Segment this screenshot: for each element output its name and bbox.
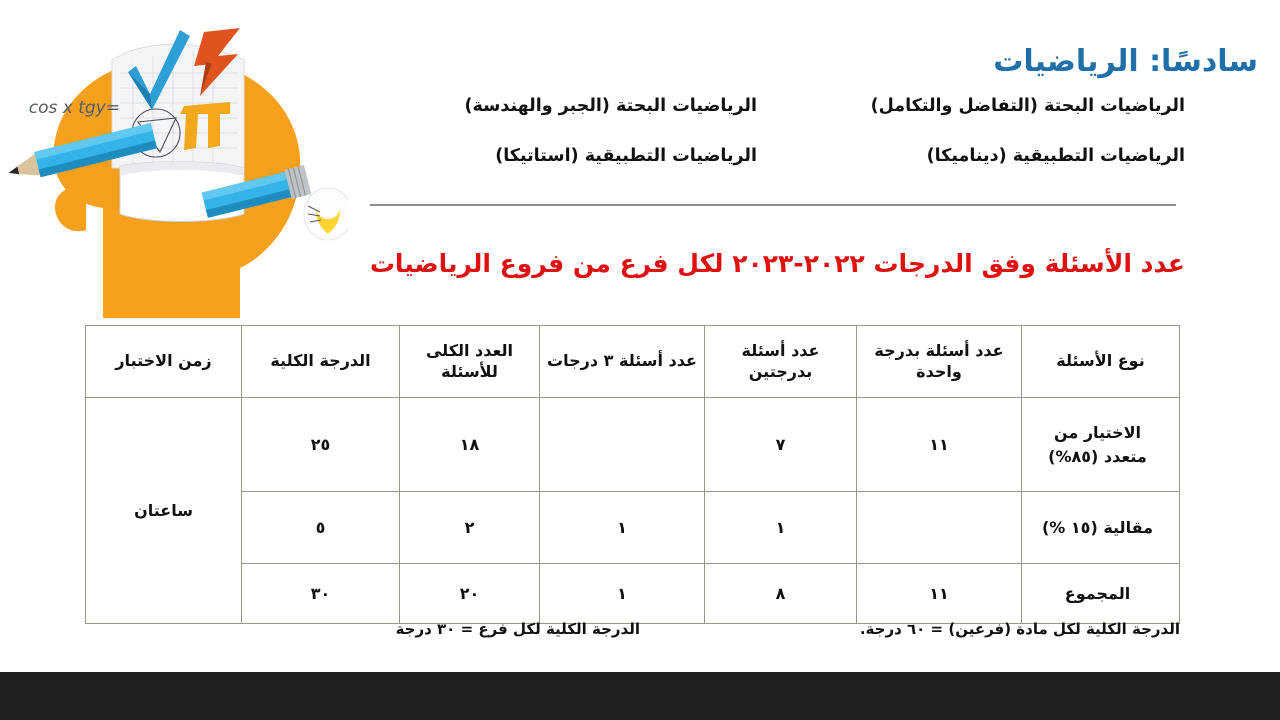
cell-mcq-three [540, 398, 705, 492]
row-label-mcq: الاختيار من متعدد (٨٥%) [1022, 398, 1180, 492]
table-row: مقالية (١٥ %) ١ ١ ٢ ٥ [86, 492, 1180, 564]
slide-canvas: =cos x tgy [0, 0, 1280, 720]
col-header-one: عدد أسئلة بدرجة واحدة [857, 326, 1022, 398]
branch-row-applied: الرياضيات التطبيقية (ديناميكا) الرياضيات… [355, 146, 1185, 166]
note-branch-total: الدرجة الكلية لكل فرع = ٣٠ درجة [396, 620, 640, 638]
horizontal-divider [370, 204, 1176, 206]
cell-total-two: ٨ [705, 564, 857, 624]
col-header-three: عدد أسئلة ٣ درجات [540, 326, 705, 398]
cell-total-total-questions: ٢٠ [400, 564, 540, 624]
questions-table: نوع الأسئلة عدد أسئلة بدرجة واحدة عدد أس… [85, 325, 1180, 624]
row-label-total: المجموع [1022, 564, 1180, 624]
branch-applied-statics: الرياضيات التطبيقية (استاتيكا) [495, 146, 757, 166]
col-header-two: عدد أسئلة بدرجتين [705, 326, 857, 398]
table-header-row: نوع الأسئلة عدد أسئلة بدرجة واحدة عدد أس… [86, 326, 1180, 398]
cell-essay-two: ١ [705, 492, 857, 564]
cell-total-one: ١١ [857, 564, 1022, 624]
col-header-total-questions: العدد الكلى للأسئلة [400, 326, 540, 398]
cell-essay-total-degree: ٥ [242, 492, 400, 564]
branch-applied-dynamics: الرياضيات التطبيقية (ديناميكا) [927, 146, 1185, 166]
cell-essay-total-questions: ٢ [400, 492, 540, 564]
branch-pure-algebra: الرياضيات البحتة (الجبر والهندسة) [465, 96, 757, 116]
col-header-total-degree: الدرجة الكلية [242, 326, 400, 398]
cell-essay-one [857, 492, 1022, 564]
table-row: المجموع ١١ ٨ ١ ٢٠ ٣٠ [86, 564, 1180, 624]
svg-text:=cos x tgy: =cos x tgy [29, 98, 120, 118]
branch-row-pure: الرياضيات البحتة (التفاضل والتكامل) الري… [355, 96, 1185, 116]
branch-list: الرياضيات البحتة (التفاضل والتكامل) الري… [355, 96, 1185, 196]
cell-exam-time: ساعتان [86, 398, 242, 624]
cell-mcq-two: ٧ [705, 398, 857, 492]
col-header-type: نوع الأسئلة [1022, 326, 1180, 398]
page-title: سادسًا: الرياضيات [993, 44, 1258, 79]
section-heading: عدد الأسئلة وفق الدرجات ٢٠٢٢-٢٠٢٣ لكل فر… [95, 248, 1185, 279]
cell-total-total-degree: ٣٠ [242, 564, 400, 624]
table-row: الاختيار من متعدد (٨٥%) ١١ ٧ ١٨ ٢٥ ساعتا… [86, 398, 1180, 492]
cell-mcq-one: ١١ [857, 398, 1022, 492]
footer-notes: الدرجة الكلية لكل مادة (فرعين) = ٦٠ درجة… [86, 620, 1180, 638]
cell-mcq-total-questions: ١٨ [400, 398, 540, 492]
questions-table-wrapper: نوع الأسئلة عدد أسئلة بدرجة واحدة عدد أس… [86, 325, 1180, 624]
bottom-bar [0, 672, 1280, 720]
cell-mcq-total-degree: ٢٥ [242, 398, 400, 492]
cell-total-three: ١ [540, 564, 705, 624]
branch-pure-calculus: الرياضيات البحتة (التفاضل والتكامل) [871, 96, 1185, 116]
cell-essay-three: ١ [540, 492, 705, 564]
note-subject-total: الدرجة الكلية لكل مادة (فرعين) = ٦٠ درجة… [860, 620, 1180, 638]
row-label-essay: مقالية (١٥ %) [1022, 492, 1180, 564]
col-header-exam-time: زمن الاختبار [86, 326, 242, 398]
